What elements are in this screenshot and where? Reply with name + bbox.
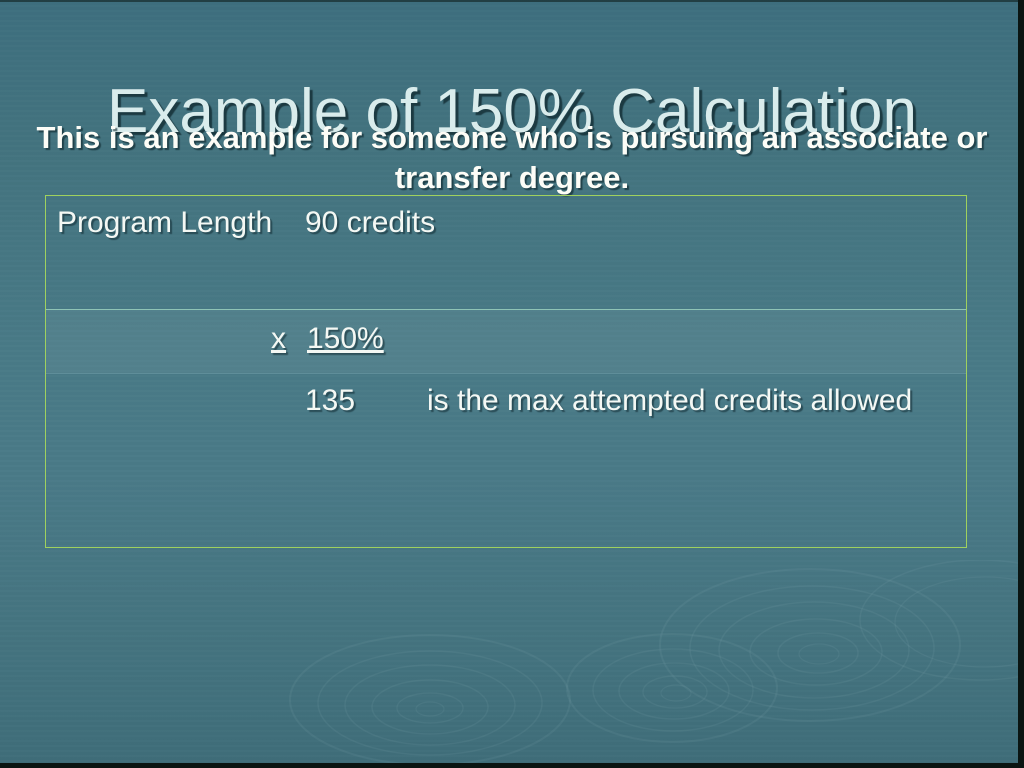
multiplier-operator: x bbox=[271, 322, 286, 355]
water-ripple-decoration bbox=[0, 560, 1024, 768]
program-length-label: Program Length bbox=[57, 202, 292, 243]
slide-subtitle: This is an example for someone who is pu… bbox=[8, 118, 1016, 198]
result-value: 135 bbox=[305, 380, 427, 421]
table-row-program-length: Program Length 90 credits bbox=[46, 196, 966, 310]
table-row-multiplier: x150% bbox=[46, 310, 966, 374]
result-note: is the max attempted credits allowed bbox=[427, 384, 912, 417]
frame-edge-top bbox=[0, 0, 1024, 2]
frame-edge-bottom bbox=[0, 763, 1024, 768]
table-row-result: 135is the max attempted credits allowed bbox=[46, 374, 966, 547]
multiplier-line: x150% bbox=[271, 318, 384, 359]
slide: Example of 150% Calculation This is an e… bbox=[0, 0, 1024, 768]
calculation-table: Program Length 90 credits x150% 135is th… bbox=[45, 195, 967, 548]
result-line: 135is the max attempted credits allowed bbox=[305, 380, 945, 421]
multiplier-value: 150% bbox=[307, 322, 384, 355]
program-length-value: 90 credits bbox=[305, 202, 435, 243]
